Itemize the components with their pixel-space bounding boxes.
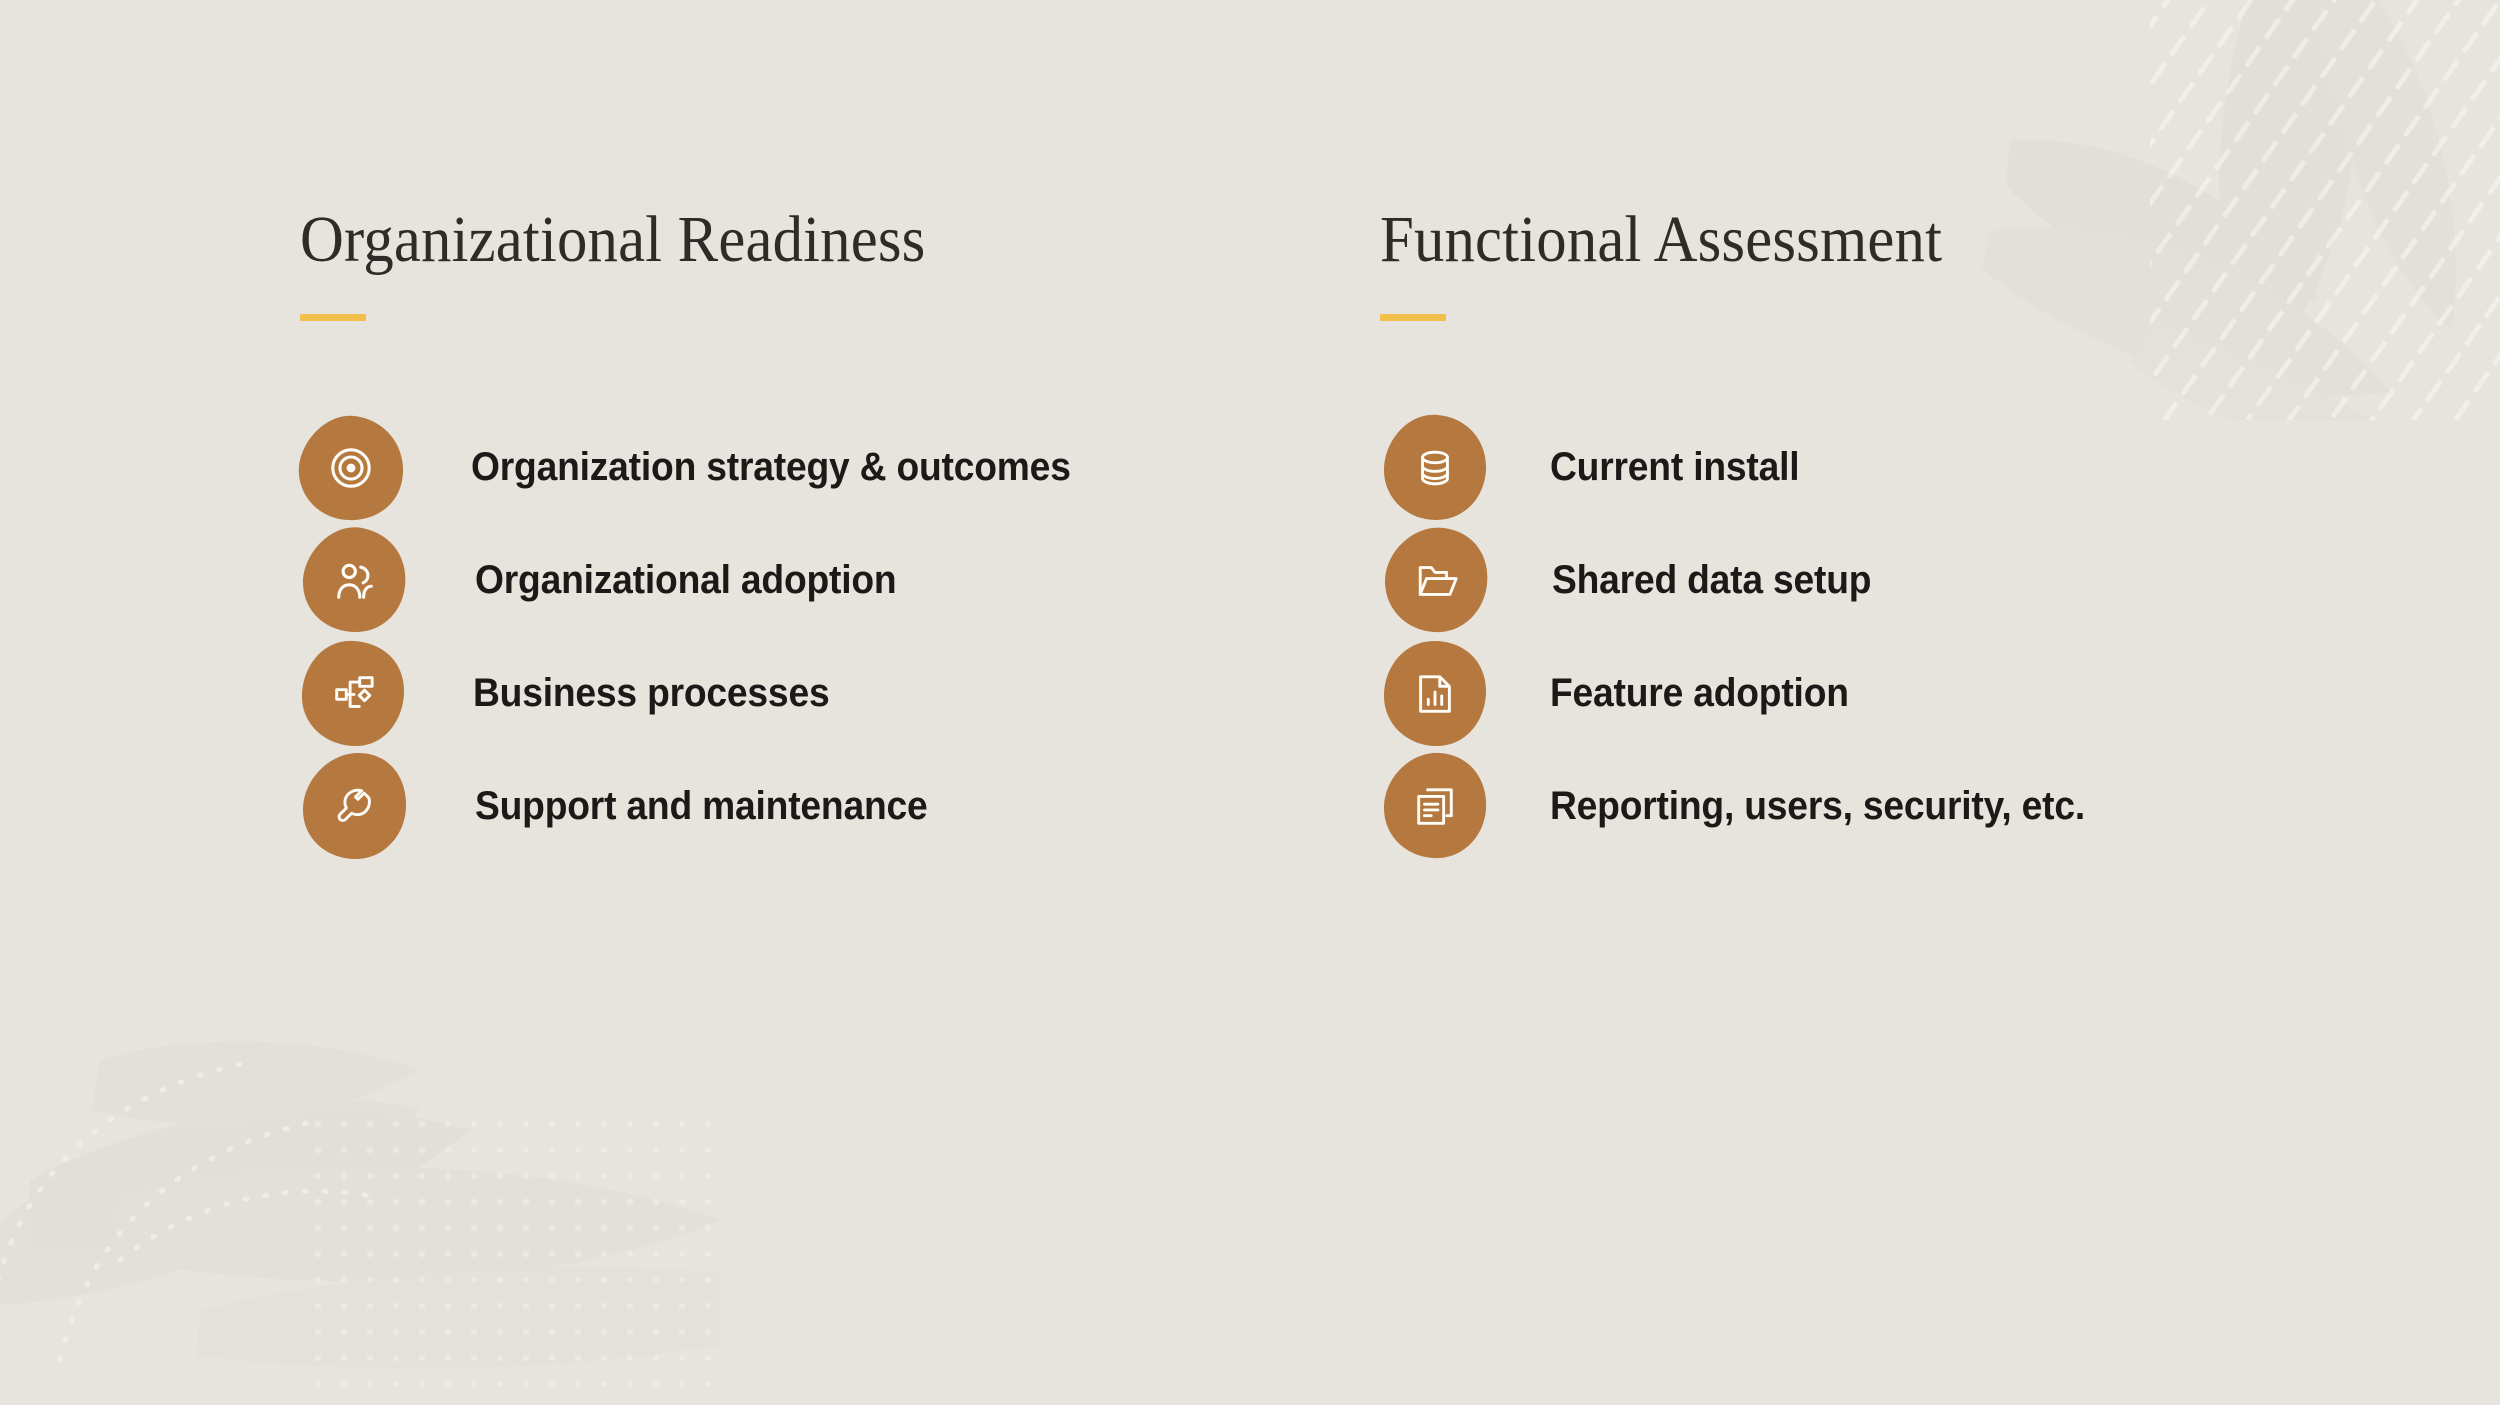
list-item-label: Business processes: [473, 671, 829, 716]
item-list-left: Organization strategy & outcomes Organiz…: [300, 411, 1300, 863]
people-icon: [300, 526, 410, 636]
title-accent-rule-right: [1380, 314, 1446, 321]
documents-stack-icon: [1380, 752, 1490, 862]
column-title-right: Functional Assessment: [1380, 205, 2300, 274]
wrench-icon: [300, 752, 410, 862]
list-item-label: Reporting, users, security, etc.: [1550, 784, 2085, 829]
list-item-label: Organization strategy & outcomes: [471, 445, 1071, 490]
list-item[interactable]: Reporting, users, security, etc.: [1380, 750, 2380, 863]
list-item[interactable]: Support and maintenance: [300, 750, 1300, 863]
list-item[interactable]: Shared data setup: [1380, 524, 2380, 637]
list-item-label: Shared data setup: [1552, 558, 1871, 603]
chart-document-icon: [1380, 639, 1490, 749]
workflow-icon: [298, 639, 408, 749]
slide-content: Organizational Readiness Organization st…: [0, 0, 2500, 1405]
list-item-label: Organizational adoption: [475, 558, 896, 603]
list-item[interactable]: Organization strategy & outcomes: [300, 411, 1300, 524]
target-icon: [296, 413, 406, 523]
list-item-label: Feature adoption: [1550, 671, 1849, 716]
list-item-label: Support and maintenance: [475, 784, 928, 829]
list-item-label: Current install: [1550, 445, 1799, 490]
folder-icon: [1382, 526, 1492, 636]
item-list-right: Current install Shared data setup: [1380, 411, 2380, 863]
list-item[interactable]: Feature adoption: [1380, 637, 2380, 750]
list-item[interactable]: Organizational adoption: [300, 524, 1300, 637]
list-item[interactable]: Current install: [1380, 411, 2380, 524]
column-organizational-readiness: Organizational Readiness Organization st…: [300, 205, 1300, 879]
column-title-left: Organizational Readiness: [300, 205, 1220, 274]
database-icon: [1380, 413, 1490, 523]
column-functional-assessment: Functional Assessment Current install: [1380, 205, 2380, 879]
list-item[interactable]: Business processes: [300, 637, 1300, 750]
title-accent-rule-left: [300, 314, 366, 321]
